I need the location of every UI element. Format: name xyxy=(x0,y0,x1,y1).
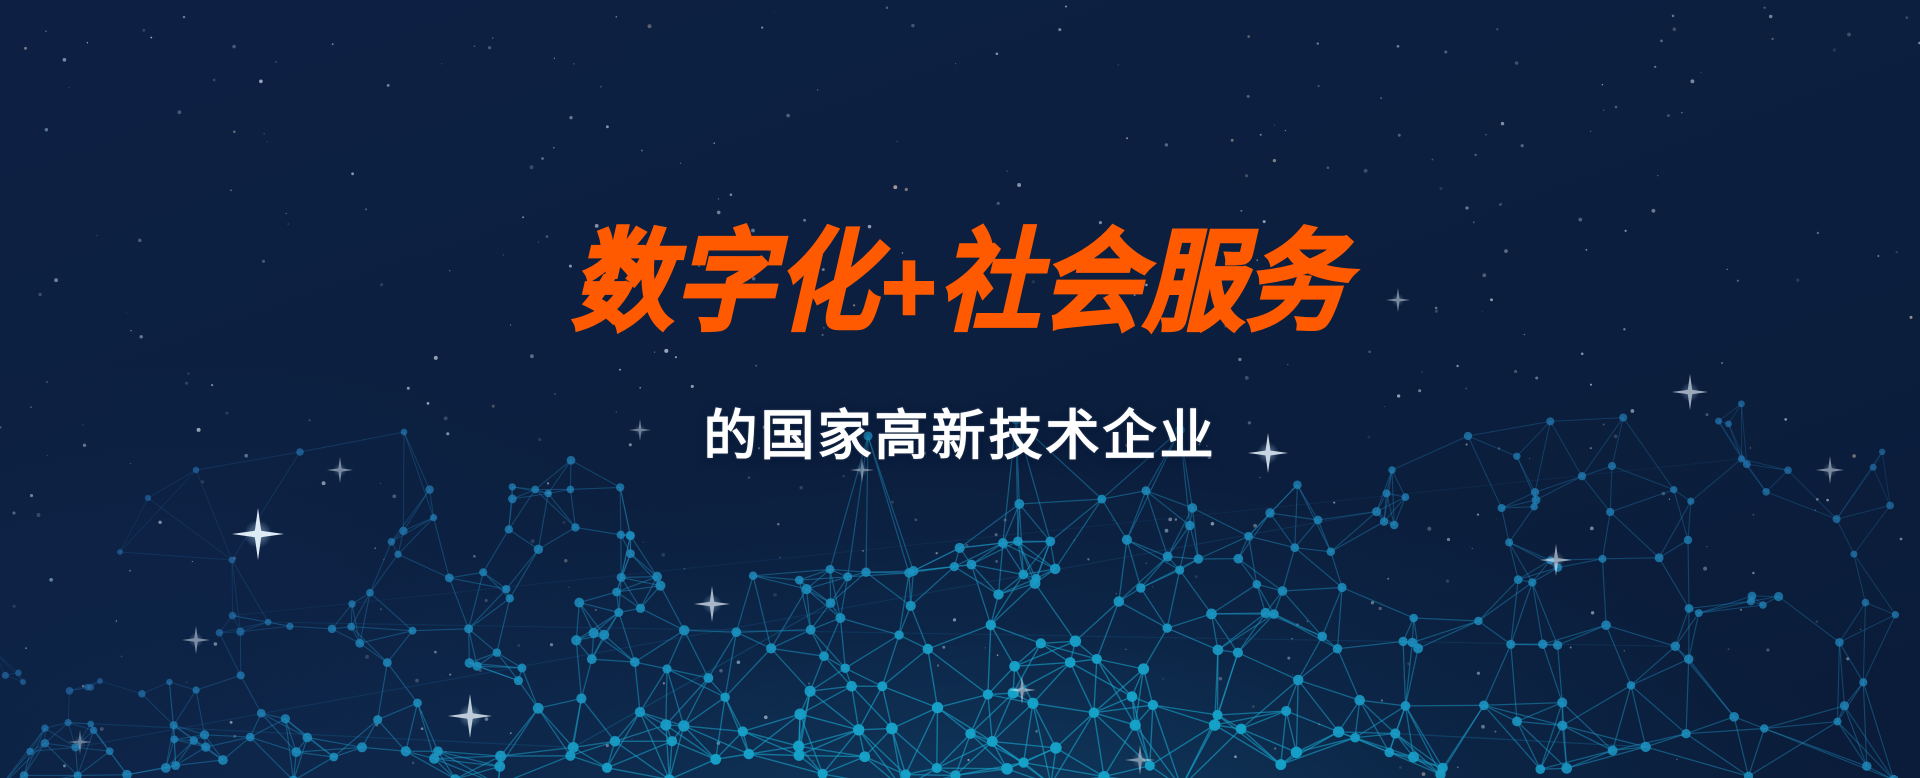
headline-plus-symbol: + xyxy=(878,238,940,332)
hero-headline: 数字化+社会服务 xyxy=(0,228,1920,338)
headline-part2: 社会服务 xyxy=(940,219,1348,347)
hero-subtitle: 的国家高新技术企业 xyxy=(0,404,1920,466)
hero-banner: 数字化+社会服务 的国家高新技术企业 xyxy=(0,0,1920,778)
headline-part1: 数字化 xyxy=(572,219,878,347)
